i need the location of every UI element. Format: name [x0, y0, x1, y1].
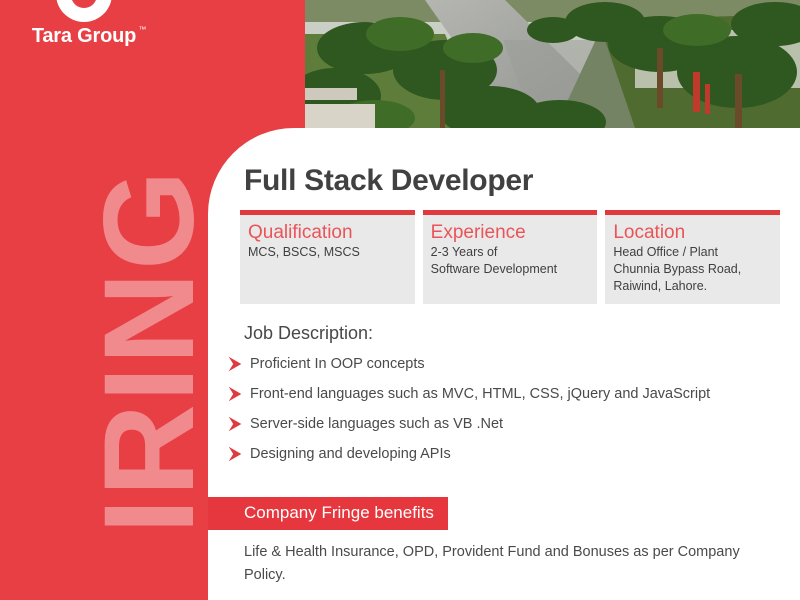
brand-name: Tara Group™ [32, 25, 136, 48]
campus-road-palm-trees-photo [305, 0, 800, 128]
info-card-line: Raiwind, Lahore. [613, 278, 772, 295]
info-card-line: Software Development [431, 261, 590, 278]
info-card-line: 2-3 Years of [431, 244, 590, 261]
brand-logo: Tara Group™ [14, 0, 154, 48]
list-item: Designing and developing APIs [218, 446, 793, 463]
info-card-location: Location Head Office / Plant Chunnia Byp… [605, 210, 780, 304]
info-card-line: MCS, BSCS, MSCS [248, 244, 407, 261]
list-item: Server-side languages such as VB .Net [218, 416, 793, 433]
photo-graphic [305, 0, 800, 128]
chevron-right-icon [226, 445, 244, 463]
list-item-label: Designing and developing APIs [250, 446, 451, 462]
job-poster: IRING [0, 0, 800, 600]
chevron-right-icon [226, 355, 244, 373]
job-detail-card: Full Stack Developer Qualification MCS, … [208, 128, 800, 600]
info-card-title: Experience [431, 222, 590, 243]
chevron-right-icon [226, 415, 244, 433]
list-item-label: Front-end languages such as MVC, HTML, C… [250, 386, 710, 402]
list-item-label: Proficient In OOP concepts [250, 356, 425, 372]
circle-logo-icon [56, 0, 112, 22]
info-card-line: Head Office / Plant [613, 244, 772, 261]
brand-name-text: Tara Group [32, 25, 136, 47]
info-card-qualification: Qualification MCS, BSCS, MSCS [240, 210, 415, 304]
info-card-group: Qualification MCS, BSCS, MSCS Experience… [240, 210, 780, 304]
info-card-experience: Experience 2-3 Years of Software Develop… [423, 210, 598, 304]
list-item: Proficient In OOP concepts [218, 356, 793, 373]
list-item-label: Server-side languages such as VB .Net [250, 416, 503, 432]
info-card-title: Location [613, 222, 772, 243]
page-title: Full Stack Developer [244, 164, 533, 198]
trademark-symbol: ™ [138, 25, 146, 34]
hiring-watermark: IRING [86, 0, 214, 534]
list-item: Front-end languages such as MVC, HTML, C… [218, 386, 793, 403]
fringe-benefits-banner: Company Fringe benefits [208, 497, 448, 530]
chevron-right-icon [226, 385, 244, 403]
job-description-heading: Job Description: [244, 323, 373, 344]
info-card-line: Chunnia Bypass Road, [613, 261, 772, 278]
fringe-benefits-text: Life & Health Insurance, OPD, Provident … [244, 541, 764, 588]
info-card-title: Qualification [248, 222, 407, 243]
job-description-list: Proficient In OOP concepts Front-end lan… [218, 356, 793, 476]
